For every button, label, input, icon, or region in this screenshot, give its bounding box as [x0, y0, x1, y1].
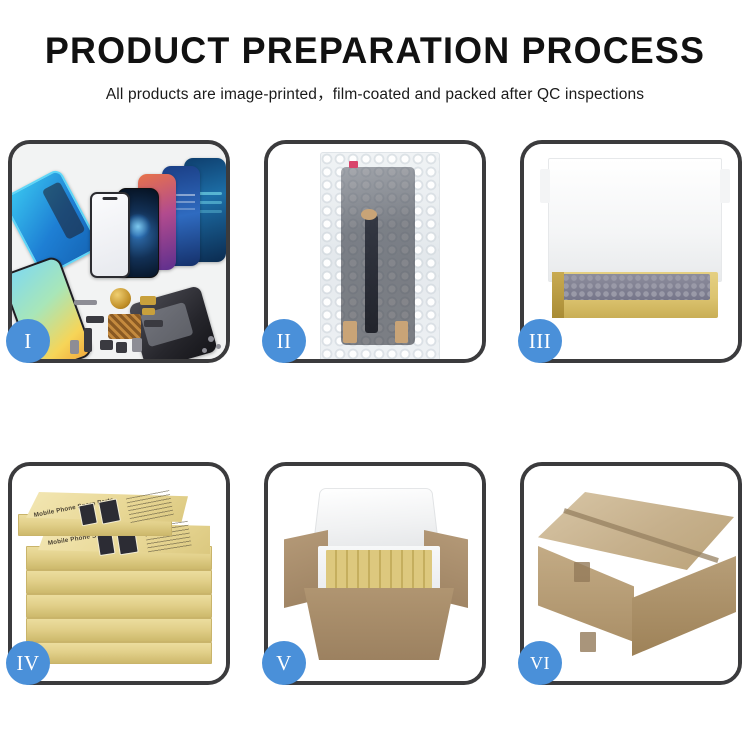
- stacked-box-3: [26, 570, 212, 594]
- process-step-card-5[interactable]: V: [264, 462, 486, 685]
- carton-flap-tab-bottom: [580, 632, 596, 652]
- process-step-grid: I II III: [8, 140, 742, 685]
- page-title: PRODUCT PREPARATION PROCESS: [11, 30, 739, 73]
- box-screen-thumb-2a: [96, 533, 115, 556]
- part-metal-bracket: [74, 300, 97, 305]
- part-button-set: [70, 340, 79, 354]
- part-speaker-coin: [110, 288, 131, 309]
- stacked-box-4: [26, 594, 212, 618]
- process-step-card-1[interactable]: I: [8, 140, 230, 363]
- process-step-card-2[interactable]: II: [264, 140, 486, 363]
- screen-assembly: [341, 167, 415, 345]
- stacked-box-6: [26, 642, 212, 664]
- step-badge-1: I: [6, 319, 50, 363]
- part-flex-strip: [84, 328, 92, 352]
- red-label-tab: [349, 161, 358, 168]
- process-step-card-4[interactable]: Mobile Phone Spare Parts Mobile Phone Sp…: [8, 462, 230, 685]
- process-step-card-6[interactable]: VI: [520, 462, 742, 685]
- stacked-box-5: [26, 618, 212, 642]
- box-screen-thumb-1b: [98, 498, 121, 524]
- carton-left-face: [538, 546, 634, 642]
- white-foam-lid: [548, 158, 722, 282]
- step-badge-6: VI: [518, 641, 562, 685]
- part-vibrator: [116, 342, 127, 353]
- part-gold-contact-2: [142, 308, 155, 315]
- part-chip-array: [108, 314, 141, 339]
- flex-cable: [365, 215, 378, 333]
- step-badge-2: II: [262, 319, 306, 363]
- step-badge-3: III: [518, 319, 562, 363]
- part-screw-1: [208, 336, 214, 342]
- process-step-card-3[interactable]: III: [520, 140, 742, 363]
- page-subtitle: All products are image-printed，film-coat…: [0, 82, 750, 104]
- connector-left: [343, 321, 357, 343]
- kraft-box-side-wall: [552, 272, 564, 318]
- grey-foam-padding: [562, 274, 710, 300]
- carton-body: [304, 588, 454, 660]
- part-screw-3: [202, 348, 207, 353]
- screen-glass-panel: [90, 192, 130, 278]
- packed-kraft-boxes: [326, 550, 432, 594]
- part-gold-contact: [140, 296, 156, 305]
- part-connector-strip: [144, 320, 163, 327]
- carton-right-face: [632, 556, 736, 656]
- part-camera-module: [100, 340, 113, 350]
- step-badge-5: V: [262, 641, 306, 685]
- part-sim-tray: [132, 338, 142, 352]
- part-screw-2: [216, 344, 221, 349]
- carton-flap-tab-top: [574, 562, 590, 582]
- page-header: PRODUCT PREPARATION PROCESS All products…: [0, 0, 750, 104]
- bubble-wrap-bag: [320, 152, 440, 359]
- part-flex-connector: [86, 316, 104, 323]
- connector-right: [395, 321, 408, 343]
- step-badge-4: IV: [6, 641, 50, 685]
- connector-top: [361, 209, 377, 220]
